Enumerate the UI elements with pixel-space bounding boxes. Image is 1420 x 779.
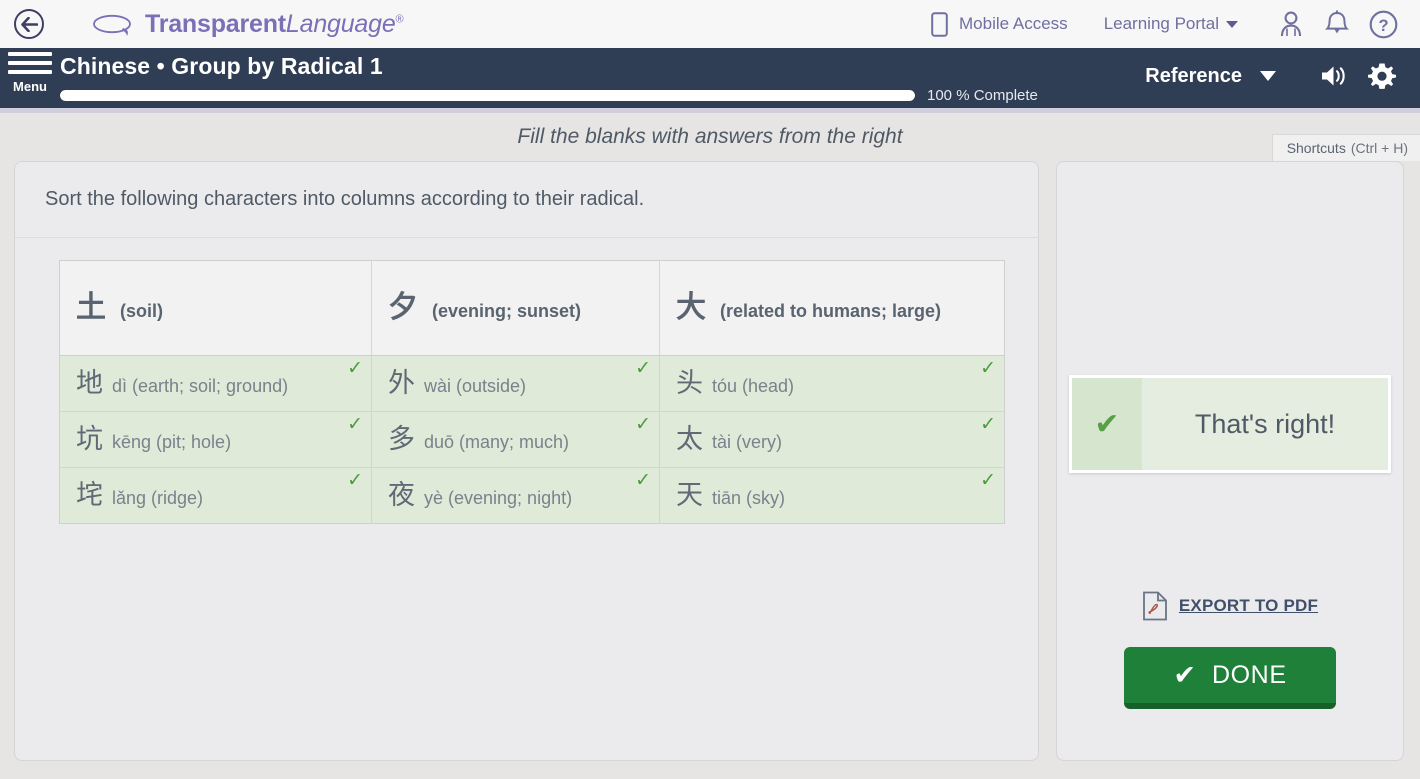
feedback-check-icon: ✔: [1072, 378, 1142, 470]
progress-row: 100 % Complete: [60, 87, 1145, 104]
answer-gloss: tài (very): [712, 432, 782, 454]
logo-word-transparent: Transparent: [145, 10, 286, 38]
correct-check-icon: ✓: [635, 471, 651, 490]
radical-gloss: (related to humans; large): [720, 301, 941, 321]
correct-check-icon: ✓: [347, 415, 363, 434]
help-icon: ?: [1369, 10, 1398, 39]
feedback-text: That's right!: [1142, 378, 1388, 470]
progress-bar-fill: [60, 90, 915, 101]
answer-gloss: tiān (sky): [712, 488, 785, 510]
done-label: DONE: [1212, 661, 1287, 690]
correct-check-icon: ✓: [980, 415, 996, 434]
column-header-evening: 夕(evening; sunset): [372, 261, 660, 356]
answer-character: 坑: [76, 426, 103, 453]
correct-check-icon: ✓: [980, 359, 996, 378]
menu-button[interactable]: Menu: [0, 48, 60, 94]
bell-icon: [1324, 10, 1350, 38]
reference-chevron-down-icon[interactable]: [1260, 71, 1276, 81]
logo-registered-mark: ®: [396, 13, 404, 25]
answer-cell[interactable]: 垞 lǎng (ridge) ✓: [60, 468, 372, 524]
exercise-panel: Sort the following characters into colum…: [14, 161, 1039, 761]
answer-character: 夜: [388, 482, 415, 509]
sorting-table: 土(soil) 夕(evening; sunset) 大(related to …: [59, 260, 1005, 524]
gear-icon: [1368, 62, 1396, 90]
logo-word-language: Language: [286, 10, 396, 38]
answer-cell[interactable]: 外 wài (outside) ✓: [372, 356, 660, 412]
svg-text:?: ?: [1378, 17, 1388, 35]
settings-button[interactable]: [1358, 56, 1406, 96]
menu-label: Menu: [13, 79, 47, 94]
column-header-large: 大(related to humans; large): [660, 261, 1005, 356]
lesson-info: Chinese • Group by Radical 1 100 % Compl…: [60, 48, 1145, 104]
answer-gloss: wài (outside): [424, 376, 526, 398]
answer-cell[interactable]: 坑 kēng (pit; hole) ✓: [60, 412, 372, 468]
answer-character: 天: [676, 482, 703, 509]
answer-cell[interactable]: 多 duō (many; much) ✓: [372, 412, 660, 468]
prompt-bar: Fill the blanks with answers from the ri…: [0, 113, 1420, 161]
export-to-pdf-button[interactable]: EXPORT TO PDF: [1142, 591, 1318, 621]
answer-character: 多: [388, 426, 415, 453]
chevron-down-icon: [1226, 21, 1238, 28]
shortcuts-button[interactable]: Shortcuts (Ctrl + H): [1272, 134, 1420, 161]
audio-button[interactable]: [1310, 56, 1358, 96]
work-area: Sort the following characters into colum…: [0, 161, 1420, 761]
correct-check-icon: ✓: [635, 359, 651, 378]
answer-cell[interactable]: 地 dì (earth; soil; ground) ✓: [60, 356, 372, 412]
answer-cell[interactable]: 头 tóu (head) ✓: [660, 356, 1005, 412]
mobile-phone-icon: [931, 12, 948, 37]
person-icon: [1277, 10, 1305, 38]
answer-character: 外: [388, 370, 415, 397]
answer-character: 太: [676, 426, 703, 453]
answer-gloss: tóu (head): [712, 376, 794, 398]
column-header-soil: 土(soil): [60, 261, 372, 356]
hamburger-icon: [8, 52, 52, 79]
radical-character: 大: [676, 290, 706, 325]
correct-check-icon: ✓: [347, 471, 363, 490]
progress-label: 100 % Complete: [927, 87, 1038, 104]
table-row: 地 dì (earth; soil; ground) ✓ 外 wài (outs…: [60, 356, 1005, 412]
brand-bar-actions: Mobile Access Learning Portal ?: [931, 4, 1406, 44]
answer-cell[interactable]: 太 tài (very) ✓: [660, 412, 1005, 468]
radical-gloss: (evening; sunset): [432, 301, 581, 321]
answer-gloss: duō (many; much): [424, 432, 569, 454]
shortcuts-label: Shortcuts: [1287, 140, 1346, 156]
account-button[interactable]: [1268, 4, 1314, 44]
help-button[interactable]: ?: [1360, 4, 1406, 44]
radical-character: 土: [76, 290, 106, 325]
radical-gloss: (soil): [120, 301, 163, 321]
logo[interactable]: TransparentLanguage®: [92, 10, 403, 39]
feedback-banner: ✔ That's right!: [1069, 375, 1391, 473]
answer-gloss: yè (evening; night): [424, 488, 572, 510]
logo-text: TransparentLanguage®: [145, 10, 403, 39]
back-button[interactable]: [14, 9, 44, 39]
answer-character: 头: [676, 370, 703, 397]
done-button[interactable]: ✔ DONE: [1124, 647, 1336, 709]
correct-check-icon: ✓: [980, 471, 996, 490]
radical-character: 夕: [388, 290, 418, 325]
answers-panel: ✔ That's right! EXPORT TO PDF ✔ DONE: [1056, 161, 1404, 761]
table-row: 坑 kēng (pit; hole) ✓ 多 duō (many; much) …: [60, 412, 1005, 468]
sorting-table-wrapper: 土(soil) 夕(evening; sunset) 大(related to …: [15, 238, 1038, 524]
lesson-bar: Menu Chinese • Group by Radical 1 100 % …: [0, 48, 1420, 108]
correct-check-icon: ✓: [347, 359, 363, 378]
lesson-title: Chinese • Group by Radical 1: [60, 51, 1145, 81]
mobile-access-button[interactable]: Mobile Access: [931, 12, 1104, 37]
transparent-language-logo-icon: [92, 11, 136, 37]
back-arrow-icon: [21, 17, 38, 32]
learning-portal-button[interactable]: Learning Portal: [1104, 14, 1268, 34]
answer-cell[interactable]: 天 tiān (sky) ✓: [660, 468, 1005, 524]
answer-gloss: kēng (pit; hole): [112, 432, 231, 454]
pdf-file-icon: [1142, 591, 1168, 621]
answer-gloss: dì (earth; soil; ground): [112, 376, 288, 398]
exercise-directions: Sort the following characters into colum…: [15, 162, 1038, 238]
done-check-icon: ✔: [1173, 662, 1196, 689]
shortcuts-keys: (Ctrl + H): [1351, 140, 1408, 156]
correct-check-icon: ✓: [635, 415, 651, 434]
exercise-prompt: Fill the blanks with answers from the ri…: [517, 125, 902, 149]
table-header-row: 土(soil) 夕(evening; sunset) 大(related to …: [60, 261, 1005, 356]
notifications-button[interactable]: [1314, 4, 1360, 44]
table-row: 垞 lǎng (ridge) ✓ 夜 yè (evening; night) ✓: [60, 468, 1005, 524]
mobile-access-label: Mobile Access: [959, 14, 1068, 34]
learning-portal-label: Learning Portal: [1104, 14, 1219, 34]
export-to-pdf-label: EXPORT TO PDF: [1179, 596, 1318, 616]
reference-button[interactable]: Reference: [1145, 65, 1260, 88]
answer-character: 地: [76, 370, 103, 397]
brand-bar: TransparentLanguage® Mobile Access Learn…: [0, 0, 1420, 48]
lesson-actions: Reference: [1145, 48, 1420, 96]
speaker-icon: [1319, 63, 1349, 89]
answer-gloss: lǎng (ridge): [112, 488, 203, 510]
answer-character: 垞: [76, 482, 103, 509]
answer-cell[interactable]: 夜 yè (evening; night) ✓: [372, 468, 660, 524]
progress-bar: [60, 90, 915, 101]
